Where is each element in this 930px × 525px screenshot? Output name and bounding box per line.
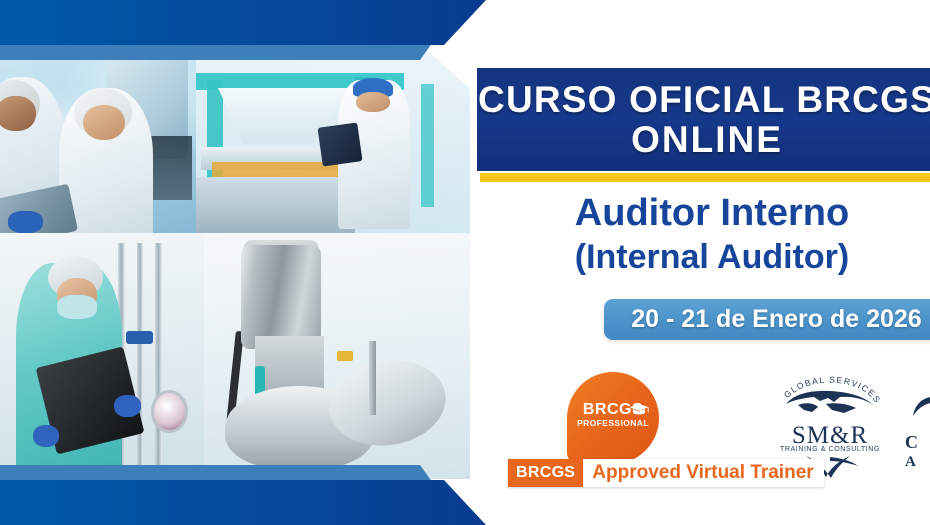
frame-band-top-dark [0, 0, 930, 45]
brcgs-logo-line2: PROFESSIONAL [567, 419, 659, 428]
partner-logo-cropped: C A [905, 388, 930, 476]
course-date-text: 20 - 21 de Enero de 2026 [631, 305, 921, 334]
photo-bottom-left [0, 233, 204, 479]
promo-banner: CURSO OFICIAL BRCGS ONLINE Auditor Inter… [0, 0, 930, 525]
graduation-cap-icon [628, 403, 650, 415]
smr-logo-tagline: TRAINING & CONSULTING [776, 446, 884, 453]
avt-label: Approved Virtual Trainer [583, 459, 823, 487]
course-subtitle: Auditor Interno (Internal Auditor) [477, 190, 930, 278]
avt-brcgs-mark: BRCGS [508, 459, 583, 487]
course-subtitle-line2: (Internal Auditor) [477, 236, 930, 278]
globe-north-icon [784, 388, 876, 424]
photo-top-left [0, 47, 196, 233]
course-date-badge: 20 - 21 de Enero de 2026 [604, 299, 930, 340]
partner-logo-line2: A [905, 454, 916, 471]
brcgs-professional-logo: BRCGS PROFESSIONAL [567, 372, 659, 464]
photo-bottom-right [204, 233, 470, 479]
course-title-banner: CURSO OFICIAL BRCGS ONLINE [477, 68, 930, 171]
course-title-line1: CURSO OFICIAL BRCGS [478, 80, 930, 120]
photo-top-right [196, 47, 470, 233]
course-subtitle-line1: Auditor Interno [477, 190, 930, 236]
course-title-line2: ONLINE [631, 120, 783, 160]
approved-virtual-trainer-badge: BRCGS Approved Virtual Trainer [508, 459, 824, 487]
photo-collage [0, 47, 470, 479]
partner-logo-line1: C [905, 432, 918, 453]
gold-accent-strip [480, 173, 930, 182]
partner-globe-icon [909, 394, 930, 428]
